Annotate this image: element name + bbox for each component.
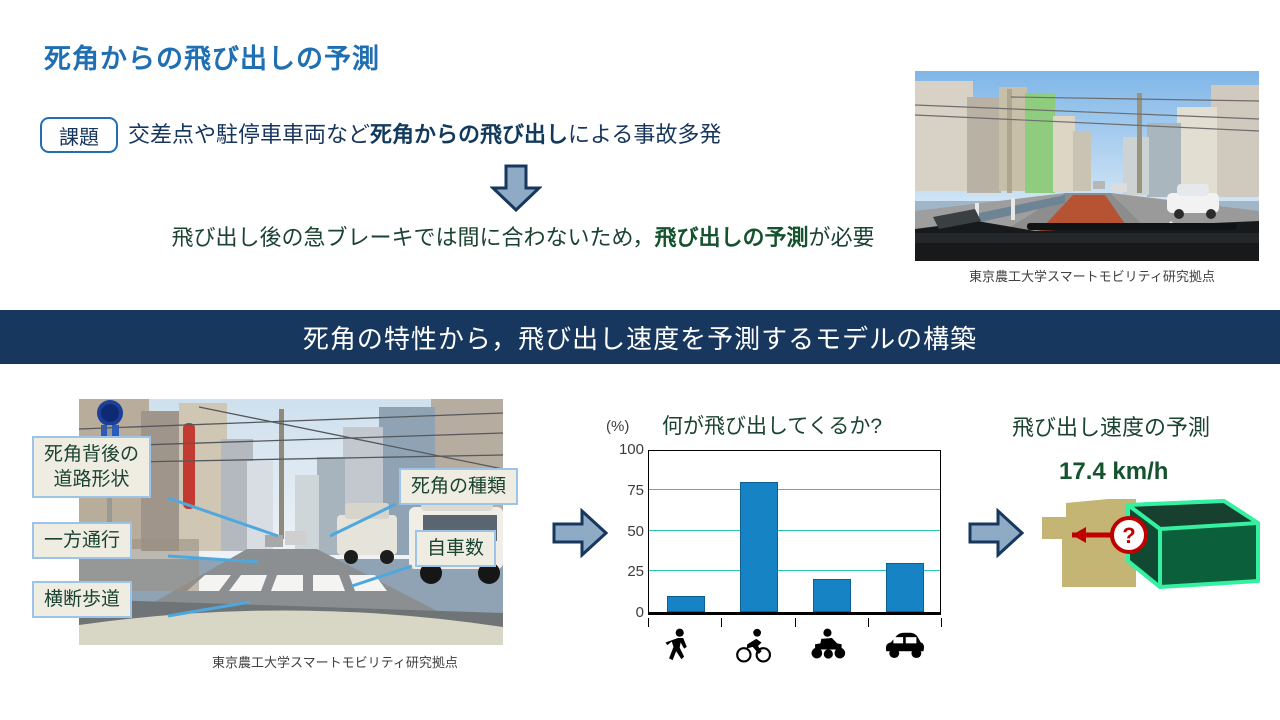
bicycle-icon — [735, 628, 781, 664]
dashcam-photo-top — [915, 71, 1259, 261]
chart-y-tick-label: 0 — [604, 604, 644, 621]
chart-gridline — [649, 489, 940, 490]
callout-one-way-traffic[interactable]: 一方通行 — [32, 522, 132, 559]
prediction-title: 飛び出し速度の予測 — [1012, 410, 1210, 442]
chart-x-tick — [721, 618, 722, 627]
chart-y-tick-label: 50 — [604, 523, 644, 540]
problem-statement-emphasis: 死角からの飛び出し — [370, 122, 568, 147]
right-arrow-icon-2 — [968, 508, 1024, 558]
chart-unit-label: (%) — [606, 418, 629, 435]
photo-caption-top: 東京農工大学スマートモビリティ研究拠点 — [969, 266, 1215, 285]
section-banner-text: 死角の特性から，飛び出し速度を予測するモデルの構築 — [303, 319, 977, 356]
photo-caption-bottom: 東京農工大学スマートモビリティ研究拠点 — [212, 652, 458, 671]
chart-bar — [813, 579, 851, 612]
page-title: 死角からの飛び出しの予測 — [44, 37, 380, 76]
slide-root: 死角からの飛び出しの予測 課題 交差点や駐停車車両など死角からの飛び出しによる事… — [0, 0, 1280, 720]
chart-bar — [667, 596, 705, 612]
chart-x-axis-icons — [648, 618, 941, 664]
chart-x-tick — [868, 618, 869, 627]
chart-x-tick — [795, 618, 796, 627]
problem-statement-post: による事故多発 — [568, 122, 721, 147]
section-banner: 死角の特性から，飛び出し速度を予測するモデルの構築 — [0, 310, 1280, 364]
chart-y-tick-label: 100 — [604, 441, 644, 458]
problem-statement-pre: 交差点や駐停車車両など — [128, 122, 370, 147]
chart-bar — [740, 482, 778, 612]
chart-x-tick — [941, 618, 942, 627]
problem-tag-badge: 課題 — [40, 117, 118, 153]
problem-statement: 交差点や駐停車車両など死角からの飛び出しによる事故多発 — [128, 119, 721, 151]
problem-tag-label: 課題 — [59, 121, 99, 150]
chart-plot-area — [648, 450, 941, 613]
conclusion-pre: 飛び出し後の急ブレーキでは間に合わないため， — [172, 225, 655, 250]
callout-line-1: 死角背後の — [44, 442, 139, 467]
callout-line-2: 道路形状 — [44, 467, 139, 492]
popout-type-chart: (%) 何が飛び出してくるか? 0255075100 — [600, 410, 950, 645]
chart-gridline — [649, 530, 940, 531]
car-icon — [881, 628, 927, 664]
chart-y-tick-label: 25 — [604, 563, 644, 580]
callout-road-shape-behind-blindspot[interactable]: 死角背後の 道路形状 — [32, 436, 151, 498]
chart-x-tick — [648, 618, 649, 627]
chart-title: 何が飛び出してくるか? — [662, 410, 882, 440]
blindspot-prediction-diagram: ? — [1030, 495, 1265, 605]
chart-y-tick-label: 75 — [604, 482, 644, 499]
motorcycle-icon — [808, 628, 854, 664]
chart-bar — [886, 563, 924, 612]
callout-blindspot-type[interactable]: 死角の種類 — [399, 468, 518, 505]
svg-text:?: ? — [1122, 523, 1135, 548]
callout-own-vehicle-count[interactable]: 自車数 — [415, 530, 496, 567]
down-arrow-icon — [490, 164, 542, 212]
chart-x-axis-line — [648, 613, 941, 615]
conclusion-statement: 飛び出し後の急ブレーキでは間に合わないため，飛び出しの予測が必要 — [128, 222, 918, 254]
callout-crosswalk[interactable]: 横断歩道 — [32, 581, 132, 618]
prediction-speed-value: 17.4 km/h — [1059, 458, 1168, 486]
pedestrian-icon — [662, 628, 708, 664]
conclusion-post: が必要 — [808, 225, 874, 250]
conclusion-emphasis: 飛び出しの予測 — [654, 225, 808, 250]
